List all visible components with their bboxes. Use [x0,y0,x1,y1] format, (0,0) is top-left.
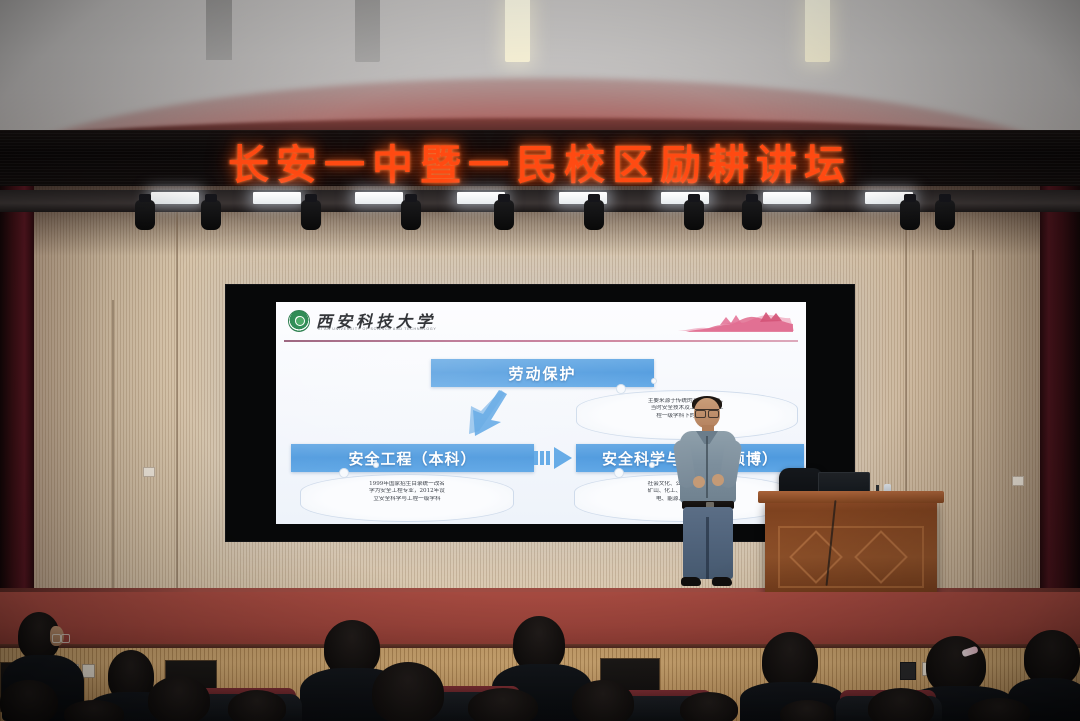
slide-box-safety-engineering: 安全工程（本科） [291,444,534,472]
ceiling-vent [355,0,380,62]
stage-spotlight [135,200,155,230]
audience-head [468,688,538,721]
chevron-right-arrow-icon [534,447,576,469]
eyeglasses-icon [695,409,719,415]
led-light-bar [151,192,199,204]
stage-spotlight [584,200,604,230]
lecturer-shirt-placket [706,436,708,498]
ceiling-light-strip [505,0,530,62]
audience-head [228,690,286,721]
audience-head [148,676,210,721]
wall-socket [900,662,916,680]
wall-light-switch [82,664,95,678]
lecturer-right-shoe [712,577,732,586]
lecturer [672,398,744,590]
stage-spotlight [935,200,955,230]
ceiling-light-strip [805,0,830,62]
stage-curtain-left [0,186,34,594]
stage-spotlight [742,200,762,230]
led-light-bar [253,192,301,204]
led-banner-text: 长安一中暨一民校区励耕讲坛 [0,131,1080,191]
slide-box-labor-protection: 劳动保护 [431,359,654,387]
audience-head [968,698,1030,721]
wooden-lectern [765,500,937,604]
lecturer-left-shoe [681,577,701,586]
wall-panel-seam [112,300,114,590]
wall-outlet [1012,476,1024,486]
audience-head [0,680,58,721]
lecturer-right-hand [712,474,724,486]
audience-head [680,692,738,721]
university-name-en: XI'AN UNIVERSITY OF SCIENCE AND TECHNOLO… [318,327,436,331]
stage-spotlight [494,200,514,230]
lectern-top-surface [758,491,944,503]
wall-panel-seam [972,250,974,590]
stage-spotlight [900,200,920,230]
down-left-arrow-icon [461,390,515,442]
lecture-hall-photo: 长安一中暨一民校区励耕讲坛 西安科技大学 XI'AN UNIVERSITY OF… [0,0,1080,721]
stage-spotlight [301,200,321,230]
lecturer-jeans [683,507,733,579]
lecturer-left-hand [693,476,705,488]
audience-head [64,700,124,721]
stage-spotlight [201,200,221,230]
slide-header: 西安科技大学 XI'AN UNIVERSITY OF SCIENCE AND T… [276,302,806,342]
audience-head [868,688,934,721]
audience-head [780,700,834,721]
stage-spotlight [401,200,421,230]
xust-seal-logo [288,310,310,332]
stage-curtain-right [1040,186,1080,594]
eyeglasses-icon [52,634,70,641]
red-mountain-ink-graphic [676,309,796,335]
stage-spotlight [684,200,704,230]
slide-header-divider [284,340,798,342]
ceiling-vent [206,0,232,60]
audience-head [572,680,634,721]
led-banner: 长安一中暨一民校区励耕讲坛 [0,130,1080,194]
wall-panel-seam [176,192,178,590]
wall-outlet [143,467,155,477]
audience-head [372,662,444,721]
led-light-bar [355,192,403,204]
slide-cloud-note-bottom-left: 1999年国家招生目录统一改名 学为安全工程专业，2012年设 立安全科学与工程… [300,474,514,522]
led-light-bar [763,192,811,204]
